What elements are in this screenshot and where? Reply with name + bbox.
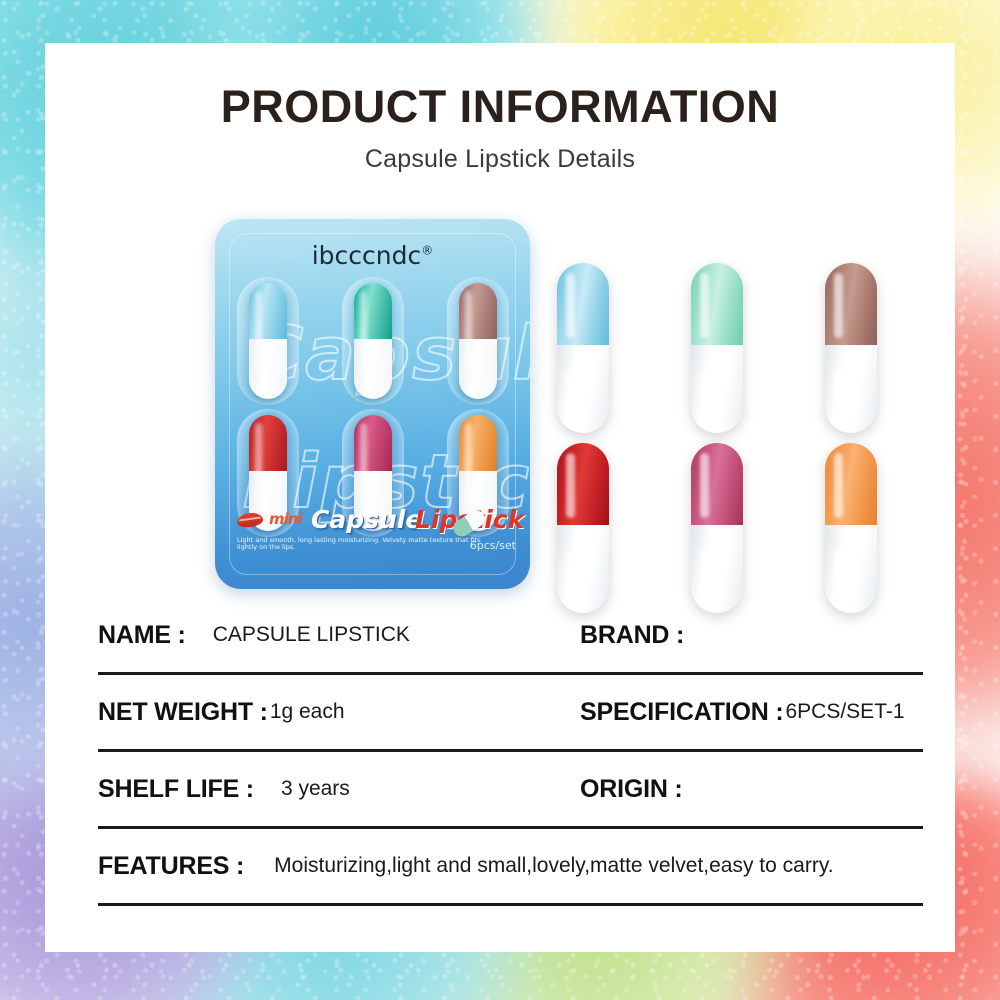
spec-label: NAME : xyxy=(98,621,186,650)
spec-label: SPECIFICATION : xyxy=(580,698,783,727)
table-row: SHELF LIFE : 3 years ORIGIN : MADE IN CH… xyxy=(98,752,923,826)
package-brand-mark: ibcccndc® xyxy=(215,241,530,270)
product-info-card: PRODUCT INFORMATION Capsule Lipstick Det… xyxy=(45,43,955,952)
spec-cell-net-weight: NET WEIGHT : 1g each xyxy=(98,675,345,749)
blister-pocket xyxy=(447,277,509,405)
rose-pink-capsule xyxy=(691,443,743,613)
spec-cell-shelf-life: SHELF LIFE : 3 years xyxy=(98,752,350,826)
spec-label: ORIGIN : xyxy=(580,775,683,804)
footer-capsule-text: Capsule xyxy=(311,505,422,534)
spec-table: NAME : CAPSULE LIPSTICK BRAND : ibcccndc… xyxy=(98,598,923,906)
page-title: PRODUCT INFORMATION xyxy=(45,81,955,133)
spec-label: BRAND : xyxy=(580,621,684,650)
product-photo: ibcccndc® Capsule Lipstick xyxy=(207,215,547,605)
blister-row-top xyxy=(215,277,530,397)
spec-value: 3 years xyxy=(254,777,350,801)
blister-pack: ibcccndc® Capsule Lipstick xyxy=(215,219,530,589)
registered-trademark-icon: ® xyxy=(421,244,433,258)
spec-value: Moisturizing,light and small,lovely,matt… xyxy=(244,854,833,878)
spec-value: 1g each xyxy=(268,700,345,724)
crimson-red-capsule xyxy=(557,443,609,613)
mint-green-capsule xyxy=(691,263,743,433)
spec-cell-brand: BRAND : ibcccndc xyxy=(580,598,684,672)
spec-cell-name: NAME : CAPSULE LIPSTICK xyxy=(98,598,410,672)
footer-count-text: 6pcs/set xyxy=(470,539,516,552)
capsule-gallery xyxy=(557,215,877,605)
blister-pocket xyxy=(237,277,299,405)
packed-mint-green-capsule xyxy=(354,283,392,399)
table-row: FEATURES : Moisturizing,light and small,… xyxy=(98,829,923,903)
spec-cell-specification: SPECIFICATION : 6PCS/SET-1 xyxy=(580,675,905,749)
packed-dusty-rose-capsule xyxy=(459,283,497,399)
footer-mini-text: mini xyxy=(269,510,302,528)
lips-icon xyxy=(236,511,264,528)
spec-label: FEATURES : xyxy=(98,852,244,881)
footer-tagline-text: Light and smooth, long lasting moisturiz… xyxy=(237,537,487,551)
spec-value: CAPSULE LIPSTICK xyxy=(186,623,410,647)
spec-value: 6PCS/SET-1 xyxy=(783,700,904,724)
table-row: NAME : CAPSULE LIPSTICK BRAND : ibcccndc xyxy=(98,598,923,672)
blister-pocket xyxy=(342,277,404,405)
package-brand-text: ibcccndc xyxy=(312,241,422,270)
spec-cell-origin: ORIGIN : MADE IN CHINA xyxy=(580,752,683,826)
spec-cell-features: FEATURES : Moisturizing,light and small,… xyxy=(98,829,834,903)
table-divider xyxy=(98,903,923,906)
table-row: NET WEIGHT : 1g each SPECIFICATION : 6PC… xyxy=(98,675,923,749)
package-footer-label: mini Capsule Lipstick Light and smooth, … xyxy=(215,509,530,565)
page-subtitle: Capsule Lipstick Details xyxy=(45,145,955,174)
dusty-rose-capsule xyxy=(825,263,877,433)
spec-label: SHELF LIFE : xyxy=(98,775,254,804)
light-blue-capsule xyxy=(557,263,609,433)
capsule-row-top xyxy=(557,263,877,433)
capsule-row-bottom xyxy=(557,443,877,613)
spec-label: NET WEIGHT : xyxy=(98,698,268,727)
packed-light-blue-capsule xyxy=(249,283,287,399)
orange-capsule xyxy=(825,443,877,613)
